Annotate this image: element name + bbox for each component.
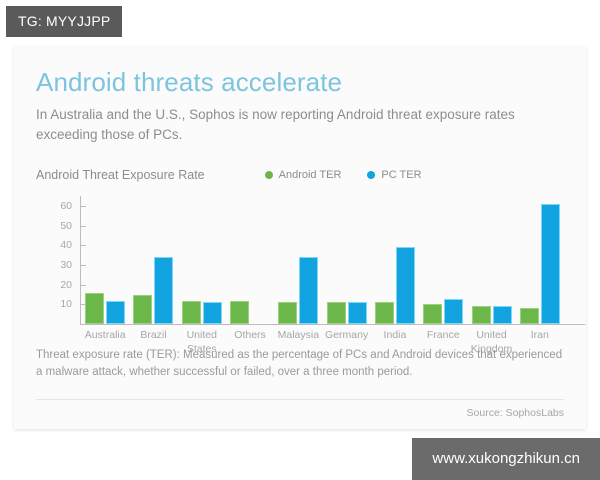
bar-android-ter[interactable] — [278, 302, 297, 324]
bar-android-ter[interactable] — [375, 302, 394, 324]
bar-pc-ter[interactable] — [541, 204, 560, 324]
bar-android-ter[interactable] — [182, 301, 201, 325]
legend-dot-icon-android — [265, 171, 273, 179]
bar-group — [322, 196, 370, 324]
bar-group — [516, 196, 564, 324]
bar-group — [178, 196, 226, 324]
y-axis: 102030405060 — [36, 196, 80, 324]
bar-pc-ter[interactable] — [493, 306, 512, 324]
y-axis-tick-mark — [80, 304, 86, 305]
bar-android-ter[interactable] — [423, 304, 442, 324]
y-axis-tick-label: 30 — [60, 259, 72, 271]
y-axis-tick-mark — [80, 245, 86, 246]
bar-android-ter[interactable] — [472, 306, 491, 324]
y-axis-tick-label: 60 — [60, 200, 72, 212]
site-url-watermark: www.xukongzhikun.cn — [412, 438, 600, 480]
page-title: Android threats accelerate — [36, 67, 564, 98]
bar-pc-ter[interactable] — [396, 247, 415, 324]
footnote-text: Threat exposure rate (TER): Measured as … — [36, 347, 566, 382]
bar-group — [274, 196, 322, 324]
y-axis-tick-label: 20 — [60, 279, 72, 291]
chart-header: Android Threat Exposure Rate Android TER… — [36, 166, 564, 184]
chart-title: Android Threat Exposure Rate — [36, 168, 205, 182]
bar-pc-ter[interactable] — [106, 301, 125, 325]
legend-item-pc-ter: PC TER — [367, 169, 421, 181]
legend-label-pc: PC TER — [381, 169, 421, 181]
y-axis-tick-label: 50 — [60, 220, 72, 232]
footnote-divider — [36, 399, 564, 400]
bar-group — [419, 196, 467, 324]
subtitle-text: In Australia and the U.S., Sophos is now… — [36, 105, 556, 144]
bar-pc-ter[interactable] — [203, 302, 222, 324]
bar-pc-ter[interactable] — [299, 257, 318, 324]
legend-item-android-ter: Android TER — [265, 169, 342, 181]
chart-legend: Android TER PC TER — [265, 169, 422, 181]
telegram-watermark-tag: TG: MYYJJPP — [6, 6, 122, 37]
bar-groups — [81, 196, 564, 324]
card-content: Android threats accelerate In Australia … — [14, 47, 586, 351]
legend-dot-icon-pc — [367, 171, 375, 179]
bar-group — [226, 196, 274, 324]
y-axis-tick-mark — [80, 285, 86, 286]
bar-pc-ter[interactable] — [444, 299, 463, 325]
bar-android-ter[interactable] — [230, 301, 249, 325]
bar-pc-ter[interactable] — [348, 302, 367, 324]
y-axis-tick-label: 40 — [60, 239, 72, 251]
bar-group — [467, 196, 515, 324]
y-axis-tick-label: 10 — [60, 298, 72, 310]
bar-group — [129, 196, 177, 324]
chart-plot-area: 102030405060 AustraliaBrazilUnited State… — [36, 196, 564, 351]
bar-android-ter[interactable] — [85, 293, 104, 325]
y-axis-tick-mark — [80, 226, 86, 227]
bar-android-ter[interactable] — [133, 295, 152, 325]
source-credit: Source: SophosLabs — [467, 407, 564, 419]
y-axis-tick-mark — [80, 206, 86, 207]
x-axis-line — [80, 324, 585, 325]
bar-android-ter[interactable] — [520, 308, 539, 324]
infographic-card: Android threats accelerate In Australia … — [14, 47, 586, 429]
bar-group — [81, 196, 129, 324]
y-axis-tick-mark — [80, 265, 86, 266]
bar-group — [371, 196, 419, 324]
bar-android-ter[interactable] — [327, 302, 346, 324]
legend-label-android: Android TER — [279, 169, 342, 181]
bar-pc-ter[interactable] — [154, 257, 173, 324]
